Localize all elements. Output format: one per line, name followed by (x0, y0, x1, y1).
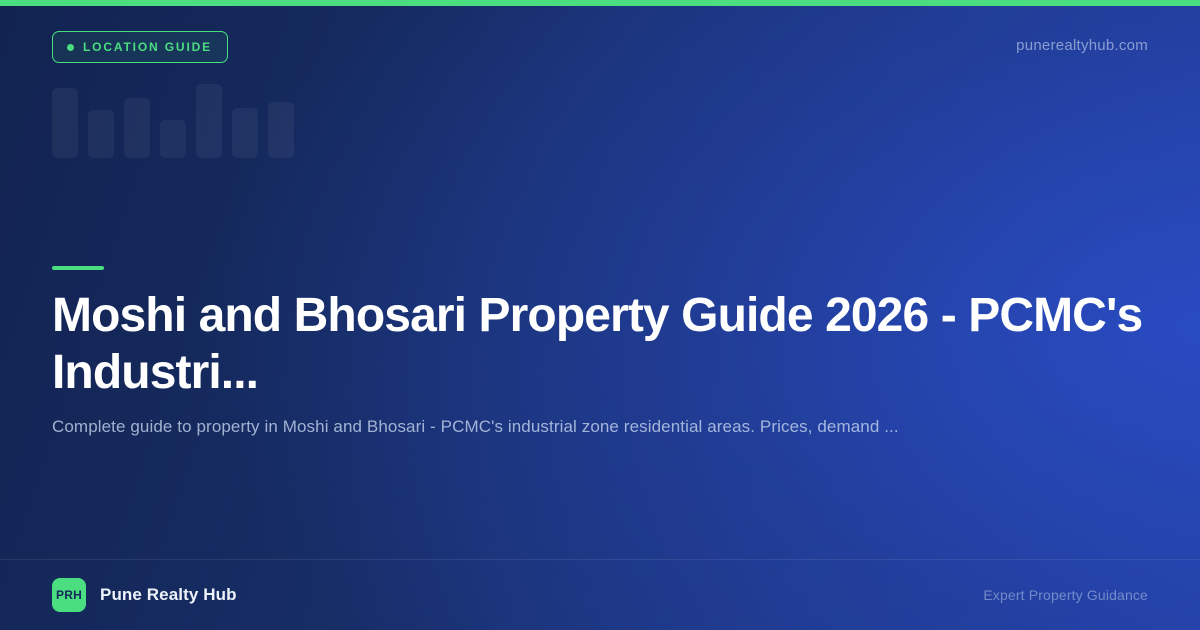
deco-bar (88, 110, 114, 158)
accent-rule (52, 266, 104, 270)
footer-tagline: Expert Property Guidance (983, 587, 1148, 603)
deco-bar (268, 102, 294, 158)
deco-bar (232, 108, 258, 158)
deco-bar (52, 88, 78, 158)
status-dot-icon (67, 44, 74, 51)
top-accent-bar (0, 0, 1200, 6)
location-guide-badge: LOCATION GUIDE (52, 31, 228, 63)
brand-lockup: PRH Pune Realty Hub (52, 578, 237, 612)
brand-logo-icon: PRH (52, 578, 86, 612)
deco-bar (160, 120, 186, 158)
card-footer: PRH Pune Realty Hub Expert Property Guid… (0, 560, 1200, 630)
deco-bar (196, 84, 222, 158)
brand-name: Pune Realty Hub (100, 585, 237, 605)
deco-bar (124, 98, 150, 158)
page-subtitle: Complete guide to property in Moshi and … (52, 414, 1132, 440)
site-domain: punerealtyhub.com (1016, 38, 1148, 53)
bar-chart-decoration (52, 88, 294, 158)
og-share-card: LOCATION GUIDE punerealtyhub.com Moshi a… (0, 0, 1200, 630)
badge-label: LOCATION GUIDE (83, 41, 212, 53)
page-title: Moshi and Bhosari Property Guide 2026 - … (52, 288, 1157, 401)
